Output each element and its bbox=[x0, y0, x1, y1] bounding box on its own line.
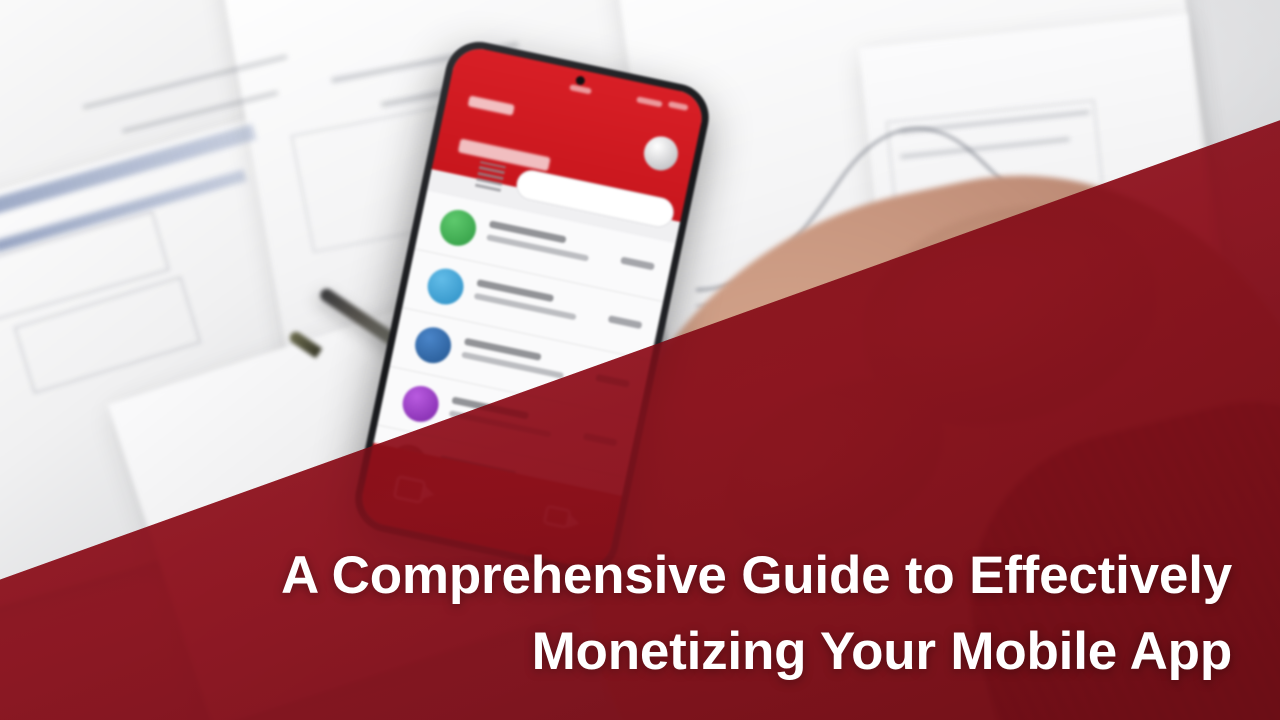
headline-line-1: A Comprehensive Guide to Effectively bbox=[52, 538, 1232, 614]
list-item-amount bbox=[620, 257, 655, 271]
filter-icon[interactable] bbox=[475, 161, 506, 192]
list-item-subtitle bbox=[486, 234, 589, 261]
avatar bbox=[412, 324, 455, 367]
hero-banner: A Comprehensive Guide to Effectively Mon… bbox=[0, 0, 1280, 720]
avatar[interactable] bbox=[641, 133, 681, 173]
app-header-back[interactable] bbox=[468, 95, 515, 115]
front-camera-notch bbox=[575, 75, 586, 86]
headline-line-2: Monetizing Your Mobile App bbox=[52, 614, 1232, 690]
status-bar-item bbox=[636, 96, 663, 107]
status-bar-battery bbox=[668, 101, 689, 111]
avatar bbox=[424, 265, 467, 308]
list-item-amount bbox=[608, 315, 643, 329]
page-title: A Comprehensive Guide to Effectively Mon… bbox=[52, 538, 1232, 690]
avatar bbox=[437, 207, 480, 250]
list-item-subtitle bbox=[461, 351, 564, 378]
list-item-subtitle bbox=[474, 293, 577, 320]
avatar bbox=[399, 383, 442, 426]
status-bar-item bbox=[569, 84, 592, 94]
